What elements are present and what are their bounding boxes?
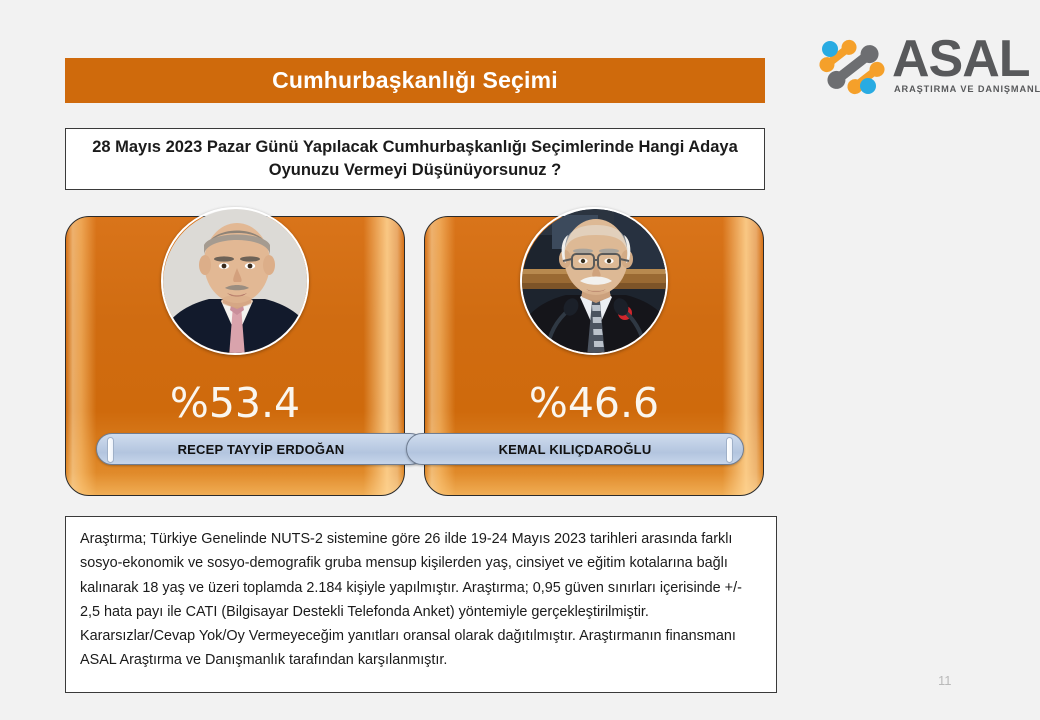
candidate-photo-kilicdaroglu [520,207,668,355]
asal-tagline-text: ARAŞTIRMA VE DANIŞMANLIK [894,84,1040,94]
methodology-footnote-box: Araştırma; Türkiye Genelinde NUTS-2 sist… [65,516,777,693]
candidate-name-erdogan: RECEP TAYYİP ERDOĞAN [178,442,345,457]
question-box: 28 Mayıs 2023 Pazar Günü Yapılacak Cumhu… [65,128,765,190]
pill-accent-left-icon [107,437,114,463]
candidate-name-kilicdaroglu: KEMAL KILIÇDAROĞLU [499,442,652,457]
candidate-percent-kilicdaroglu: %46.6 [425,379,763,427]
methodology-footnote-text: Araştırma; Türkiye Genelinde NUTS-2 sist… [80,527,762,673]
candidate-name-bar-erdogan[interactable]: RECEP TAYYİP ERDOĞAN [96,433,426,465]
asal-logo-wordmark: ASAL ARAŞTIRMA VE DANIŞMANLIK [892,32,1028,102]
asal-logo-mark-icon [816,36,890,98]
page-number: 11 [938,673,952,688]
candidate-name-bar-kilicdaroglu[interactable]: KEMAL KILIÇDAROĞLU [406,433,744,465]
question-text: 28 Mayıs 2023 Pazar Günü Yapılacak Cumhu… [78,136,752,182]
asal-brand-text: ASAL [892,32,1030,86]
page-title: Cumhurbaşkanlığı Seçimi [272,67,558,94]
candidate-photo-erdogan [161,207,309,355]
asal-logo: ASAL ARAŞTIRMA VE DANIŞMANLIK [808,28,1028,106]
candidate-percent-erdogan: %53.4 [66,379,404,427]
pill-accent-right-icon [726,437,733,463]
slide-title-bar: Cumhurbaşkanlığı Seçimi [65,58,765,103]
